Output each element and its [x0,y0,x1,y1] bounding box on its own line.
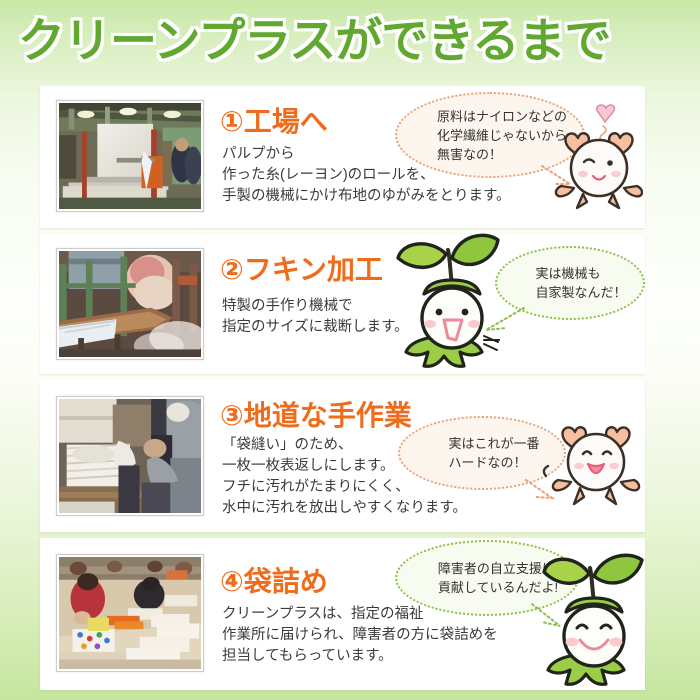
section-1-photo [56,100,204,212]
bubble-line: 自家製なんだ！ [535,283,626,302]
infographic-page: クリーンプラスができるまで [0,0,700,700]
section-1-heading: ①工場へ [220,100,328,140]
section-3-mascot-pink-round [540,396,644,512]
body-line: 作業所に届けられ、障害者の方に袋詰めを [222,625,498,646]
section-3-photo [56,396,204,516]
section-panel-2: ②フキン加工 特製の手作り機械で 指定のサイズに裁断します。 [40,234,645,374]
section-2-heading: ②フキン加工 [220,248,383,288]
page-title-banner: クリーンプラスができるまで [0,8,700,78]
bubble-line: ハードなの！ [448,453,539,472]
body-line: 担当してもらっています。 [222,646,498,667]
body-line: 指定のサイズに裁断します。 [222,317,409,338]
body-line: 水中に汚れを放出しやすくなります。 [222,498,467,519]
section-2-bubble-tail [480,306,526,336]
body-line: 特製の手作り機械で [222,296,409,317]
section-panel-3: ③地道な手作業 「袋縫い」のため、 一枚一枚表返しにします。 フチに汚れがたまり… [40,380,645,532]
bubble-line: 実はこれが一番 [448,434,539,453]
section-3-heading: ③地道な手作業 [220,394,412,434]
body-line: 手製の機械にかけ布地のゆがみをとります。 [222,186,511,207]
section-4-heading: ④袋詰め [220,560,328,600]
section-1-mascot-pink-round [543,102,643,214]
section-4-photo [56,554,204,672]
section-2-body: 特製の手作り機械で 指定のサイズに裁断します。 [222,296,409,338]
section-panel-4: ④袋詰め クリーンプラスは、指定の福祉 作業所に届けられ、障害者の方に袋詰めを … [40,538,645,690]
bubble-line: 実は機械も [535,264,626,283]
section-2-mascot-sprout [388,228,514,368]
section-4-mascot-sprout [530,546,656,686]
section-2-photo [56,248,204,360]
page-title: クリーンプラスができるまで [0,8,700,74]
section-panel-1: ①工場へ パルプから 作った糸(レーヨン)のロールを、 手製の機械にかけ布地のゆ… [40,86,645,228]
